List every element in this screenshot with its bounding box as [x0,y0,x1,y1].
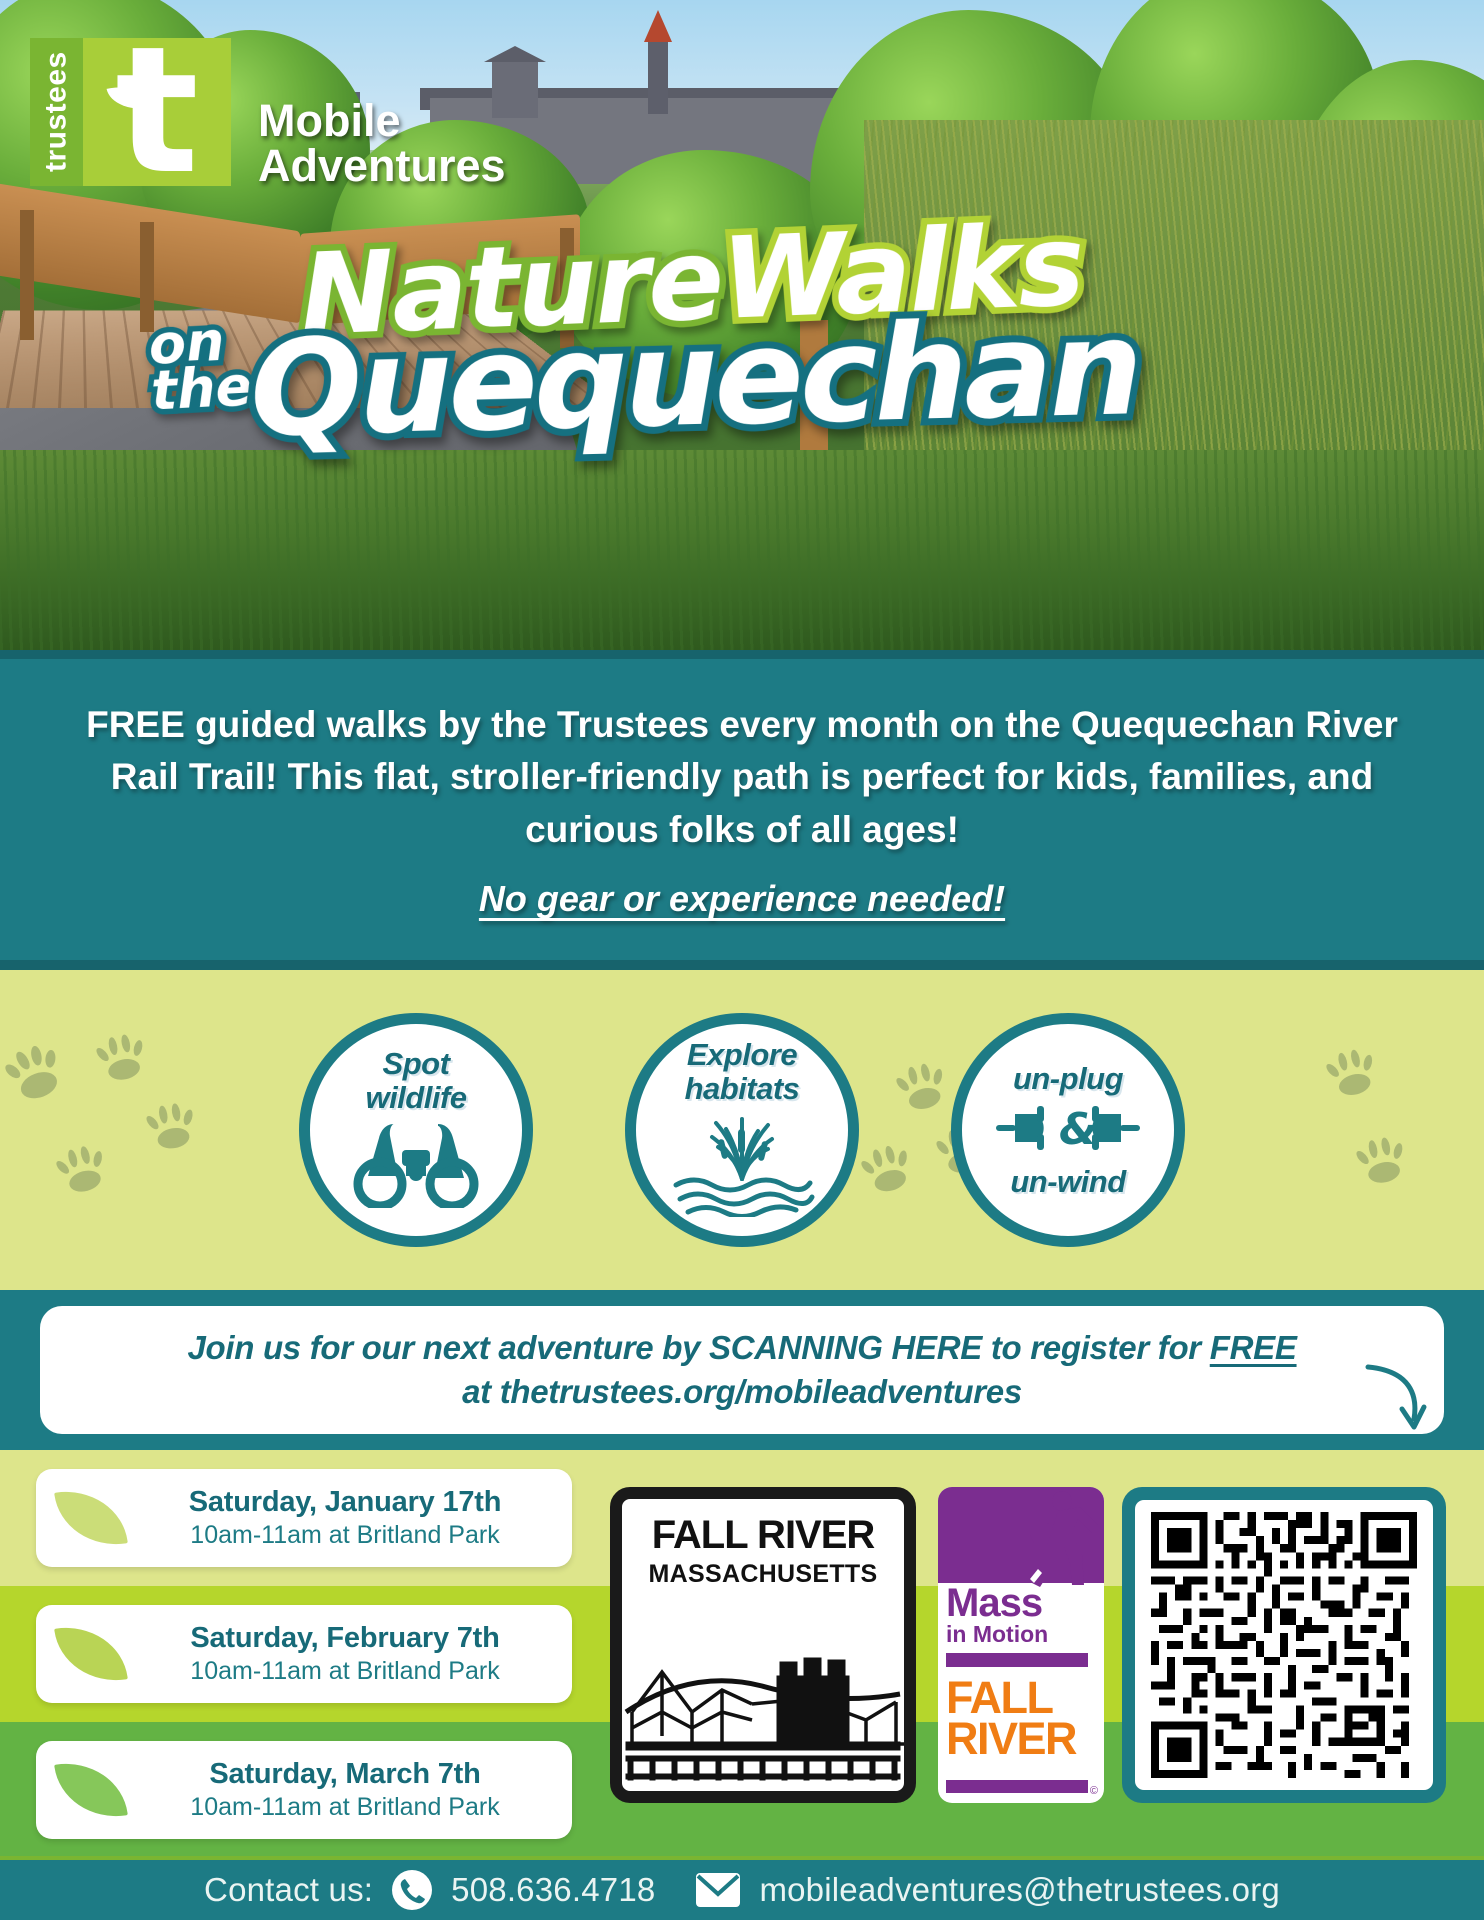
badge-label: Spot wildlife [365,1047,466,1114]
benefits-band: Spot wildlife [0,960,1484,1290]
date-card[interactable]: Saturday, January 17th 10am-11am at Brit… [36,1469,572,1567]
contact-label: Contact us: [204,1871,373,1909]
poster: trustees t Mobile Adventures NatureWalks… [0,0,1484,1920]
mim-mass-text: Mass [946,1583,1042,1623]
headline-quequechan: Quequechan [249,302,1141,456]
badge-line2: wildlife [365,1081,466,1114]
paw-icon [143,1100,200,1152]
paw-icon [856,1141,917,1197]
qr-code-frame[interactable] [1122,1487,1446,1803]
mim-divider [946,1653,1088,1667]
leaf-icon [54,1756,128,1825]
cta-line-2: at thetrustees.org/mobileadventures [462,1370,1022,1414]
bridge-smokestacks-icon [622,1616,904,1791]
fall-river-title: FALL RIVER [622,1515,904,1555]
headline-word-the: the [150,364,253,416]
trustees-t-mark: t [83,38,231,186]
program-title-line1: Mobile [258,98,506,143]
church-steeple [648,40,668,114]
cta-free: FREE [1210,1329,1297,1366]
badge-explore-habitats: Explore habitats [625,1013,859,1247]
trustees-wordmark: trustees [30,38,83,186]
mass-in-motion-logo: Mass in Motion FALL RIVER © [938,1487,1104,1803]
date-time-location: 10am-11am at Britland Park [190,1521,499,1550]
program-title-line2: Adventures [258,143,506,188]
foreground-grass [0,450,1484,650]
paw-icon [1352,1134,1411,1188]
curved-arrow-icon [1358,1361,1428,1440]
trustees-logo[interactable]: trustees t [30,38,231,186]
badge-label: un-plug [1013,1062,1123,1095]
badge-line1: un-plug [1013,1062,1123,1095]
date-time-location: 10am-11am at Britland Park [190,1657,499,1686]
contact-footer: Contact us: 508.636.4718 mobileadventure… [0,1856,1484,1920]
cta-card[interactable]: Join us for our next adventure by SCANNI… [40,1306,1444,1434]
power-plug-icon: & [993,1100,1143,1161]
date-card-text: Saturday, March 7th 10am-11am at Britlan… [136,1758,572,1822]
badge-line1: Spot [365,1047,466,1080]
cta-line-1: Join us for our next adventure by SCANNI… [187,1326,1296,1370]
leaf-icon [54,1620,128,1689]
contact-email[interactable]: mobileadventures@thetrustees.org [759,1871,1280,1909]
badge-label-2: un-wind [1010,1165,1125,1198]
badge-spot-wildlife: Spot wildlife [299,1013,533,1247]
mim-in-motion-text: in Motion [946,1623,1048,1646]
date-card[interactable]: Saturday, February 7th 10am-11am at Brit… [36,1605,572,1703]
program-title: Mobile Adventures [258,98,506,188]
date-card[interactable]: Saturday, March 7th 10am-11am at Britlan… [36,1741,572,1839]
fall-river-subtitle: MASSACHUSETTS [622,1560,904,1589]
badge-label: Explore habitats [685,1038,800,1105]
paw-icon [0,1039,70,1107]
badge-line2: un-wind [1010,1165,1125,1198]
hero-photo: trustees t Mobile Adventures NatureWalks… [0,0,1484,650]
qr-code-svg [1147,1512,1421,1778]
date-time-location: 10am-11am at Britland Park [190,1793,499,1822]
intro-emphasis: No gear or experience needed! [479,878,1005,920]
date-title: Saturday, January 17th [189,1486,502,1519]
paw-icon [1322,1045,1382,1100]
railing-post [20,210,34,340]
contact-phone[interactable]: 508.636.4718 [451,1871,655,1909]
date-card-text: Saturday, January 17th 10am-11am at Brit… [136,1486,572,1550]
cta-text: Join us for our next adventure by SCANNI… [187,1329,1209,1366]
logo-letter-t: t [83,38,231,186]
phone-icon [391,1869,433,1911]
badge-unplug-unwind: un-plug & [951,1013,1185,1247]
binoculars-icon [350,1122,482,1213]
mim-fall: FALL [946,1677,1076,1718]
qr-code-icon[interactable] [1135,1500,1433,1790]
date-title: Saturday, February 7th [190,1622,499,1655]
paw-icon [92,1031,151,1085]
date-card-text: Saturday, February 7th 10am-11am at Brit… [136,1622,572,1686]
mim-river: RIVER [946,1718,1076,1759]
paw-icon [892,1059,952,1114]
marsh-cattail-icon [668,1113,816,1222]
leaf-icon [54,1484,128,1553]
intro-body: FREE guided walks by the Trustees every … [60,699,1424,857]
mim-divider-bottom [946,1780,1088,1793]
envelope-icon [695,1871,741,1909]
fall-river-logo: FALL RIVER MASSACHUSETTS [610,1487,916,1803]
badge-line2: habitats [685,1072,800,1105]
paw-icon [52,1142,112,1198]
headline-on-the: on the [148,317,254,415]
badge-line1: Explore [685,1038,800,1071]
mim-copyright: © [1090,1785,1098,1797]
intro-section: FREE guided walks by the Trustees every … [0,650,1484,960]
mim-fall-river-text: FALL RIVER [946,1677,1076,1760]
svg-text:&: & [1059,1104,1097,1155]
date-title: Saturday, March 7th [209,1758,480,1791]
